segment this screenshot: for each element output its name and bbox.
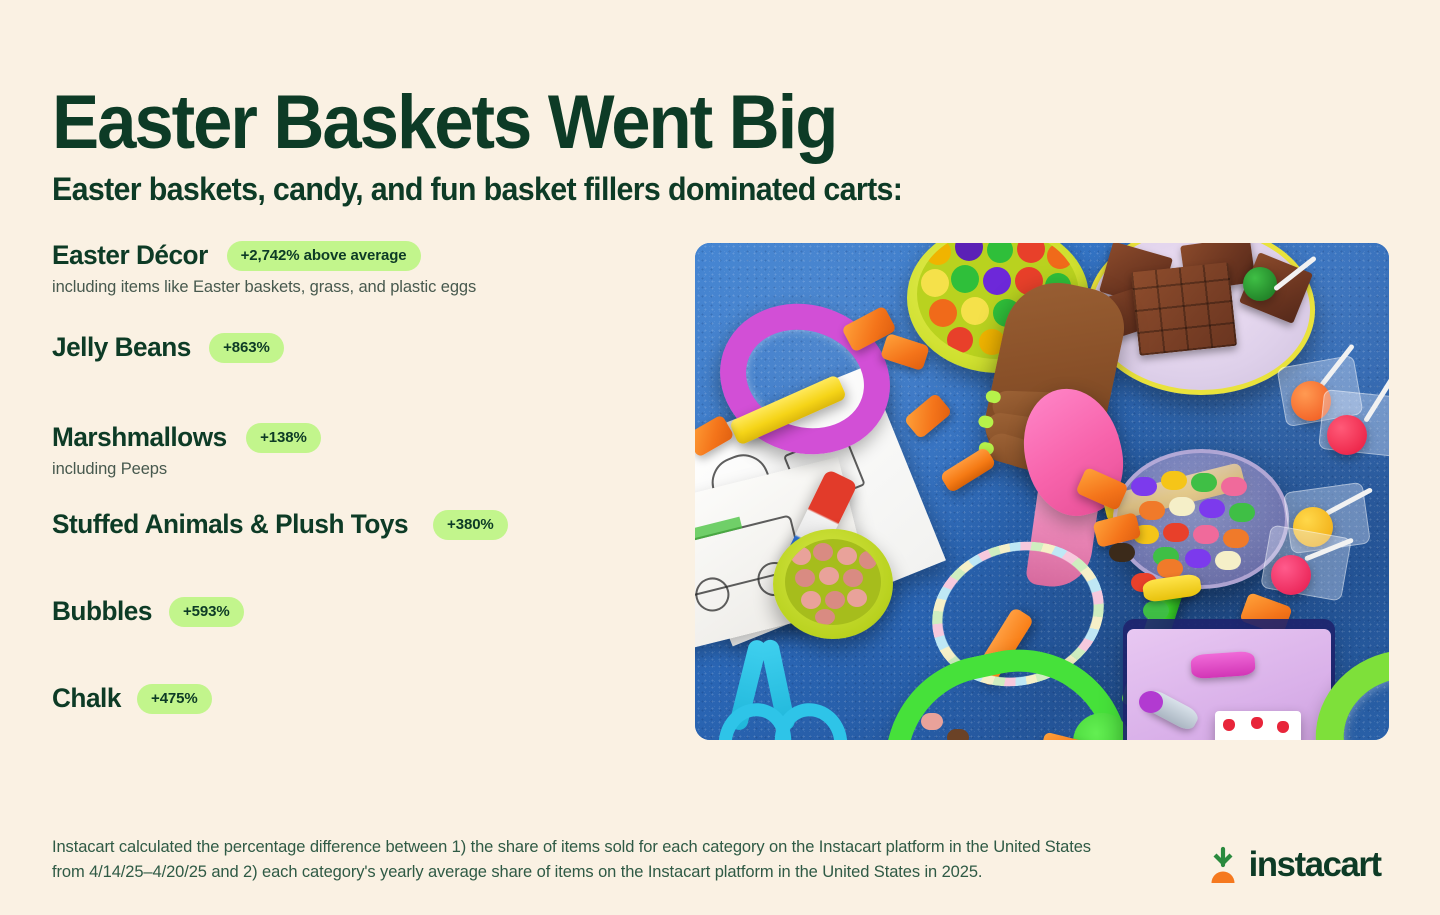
list-item: Marshmallows +138% including Peeps	[52, 422, 672, 479]
list-item-header: Stuffed Animals & Plush Toys +380%	[52, 509, 672, 540]
list-item: Bubbles +593%	[52, 596, 672, 627]
list-item: Jelly Beans +863%	[52, 332, 672, 363]
loose-jelly-bean	[947, 729, 969, 740]
page-title: Easter Baskets Went Big	[52, 85, 836, 161]
status-badge: +380%	[433, 510, 508, 540]
strawberry-paper	[1215, 711, 1301, 740]
status-badge: +138%	[246, 423, 321, 453]
chocolate-bar	[1131, 262, 1237, 356]
category-name: Marshmallows	[52, 422, 227, 453]
instacart-wordmark: instacart	[1249, 847, 1381, 882]
loose-jelly-bean	[1143, 601, 1169, 620]
easter-items-photo	[695, 243, 1389, 740]
list-item: Stuffed Animals & Plush Toys +380%	[52, 509, 672, 540]
list-item-header: Jelly Beans +863%	[52, 332, 672, 363]
category-name: Stuffed Animals & Plush Toys	[52, 509, 408, 540]
status-badge: +2,742% above average	[227, 241, 421, 271]
list-item: Easter Décor +2,742% above average inclu…	[52, 240, 672, 297]
green-candy-bowl	[773, 529, 893, 639]
category-name: Bubbles	[52, 596, 152, 627]
pink-hair-clip	[1190, 651, 1256, 679]
category-name: Easter Décor	[52, 240, 208, 271]
category-name: Chalk	[52, 683, 121, 714]
list-item-header: Marshmallows +138%	[52, 422, 672, 453]
methodology-footnote: Instacart calculated the percentage diff…	[52, 835, 1112, 885]
loose-jelly-bean	[1109, 543, 1135, 562]
page-subtitle: Easter baskets, candy, and fun basket fi…	[52, 172, 902, 207]
scissors	[721, 645, 841, 740]
category-note: including Peeps	[52, 460, 672, 479]
instacart-logo: instacart	[1207, 845, 1381, 883]
carrot-icon	[1207, 845, 1239, 883]
status-badge: +863%	[209, 333, 284, 363]
loose-jelly-bean	[921, 713, 943, 730]
grape-charm	[1139, 691, 1163, 713]
infographic-page: Easter Baskets Went Big Easter baskets, …	[0, 0, 1440, 915]
list-item-header: Bubbles +593%	[52, 596, 672, 627]
list-item-header: Chalk +475%	[52, 683, 672, 714]
status-badge: +593%	[169, 597, 244, 627]
status-badge: +475%	[137, 684, 212, 714]
list-item-header: Easter Décor +2,742% above average	[52, 240, 672, 271]
list-item: Chalk +475%	[52, 683, 672, 714]
category-name: Jelly Beans	[52, 332, 191, 363]
category-note: including items like Easter baskets, gra…	[52, 278, 672, 297]
